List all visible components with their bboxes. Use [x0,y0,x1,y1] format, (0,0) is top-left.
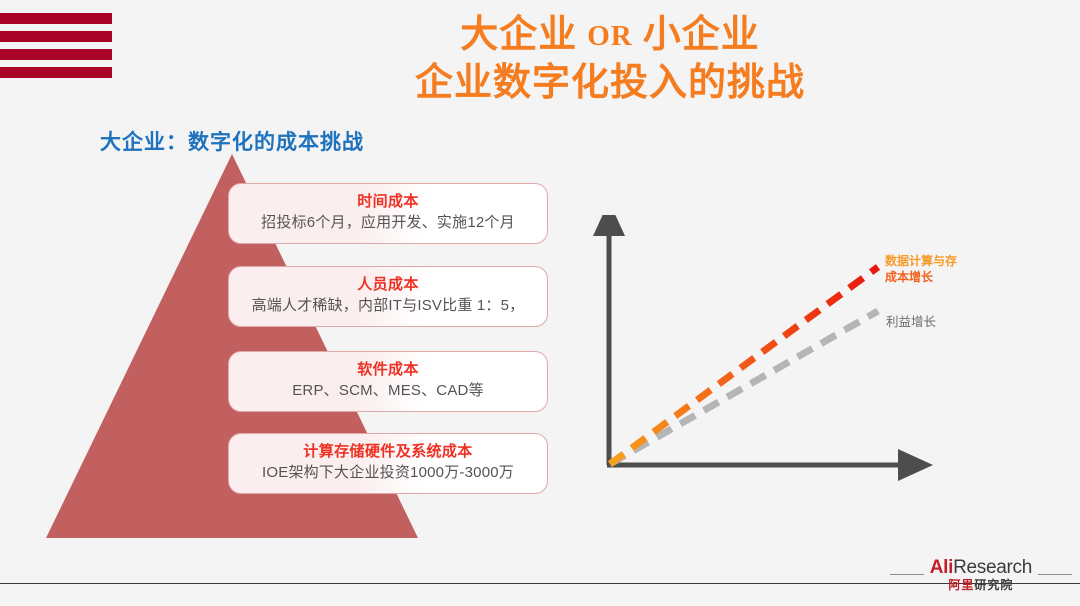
brand-bar-4 [0,67,112,78]
title-or: OR [577,20,643,52]
slide-canvas: 大企业OR小企业 企业数字化投入的挑战 大企业：数字化的成本挑战 时间成本 招投… [0,0,1080,606]
footer-logo-en-ali: Ali [930,557,953,578]
footer-logo-en: AliResearch [930,557,1032,578]
chart-series-cost-growth [610,267,878,464]
brand-bar-3 [0,49,112,60]
brand-bar-1 [0,13,112,24]
title-small-enterprise: 小企业 [643,14,760,56]
chart-label-benefit-growth: 利益增长 [886,314,936,330]
cost-box-desc: ERP、SCM、MES、CAD等 [239,380,537,402]
cost-box-time[interactable]: 时间成本 招投标6个月，应用开发、实施12个月 [228,183,548,244]
chart-label-cost-line1: 数据计算与存 [885,253,957,269]
footer-logo-cn: 阿里研究院 [930,579,1032,591]
page-title: 大企业OR小企业 企业数字化投入的挑战 [300,12,920,107]
footer-logo-dash-right [1038,574,1072,575]
cost-box-desc: 高端人才稀缺，内部IT与ISV比重 1：5， [239,295,537,317]
cost-box-software[interactable]: 软件成本 ERP、SCM、MES、CAD等 [228,351,548,412]
footer-logo-dash-left [890,574,924,575]
footer-logo-cn-ali: 阿里 [948,578,974,592]
ali-research-logo: AliResearch 阿里研究院 [890,558,1072,591]
cost-box-title: 人员成本 [239,275,537,295]
chart-label-cost-line2: 成本增长 [885,269,957,285]
brand-bars-logo [0,13,112,78]
cost-box-personnel[interactable]: 人员成本 高端人才稀缺，内部IT与ISV比重 1：5， [228,266,548,327]
chart-series-benefit-growth [610,311,878,464]
title-big-enterprise: 大企业 [460,14,577,56]
growth-chart-svg [590,215,1060,490]
title-line-2: 企业数字化投入的挑战 [300,60,920,107]
cost-box-hardware[interactable]: 计算存储硬件及系统成本 IOE架构下大企业投资1000万-3000万 [228,433,548,494]
chart-label-cost-growth: 数据计算与存 成本增长 [885,253,957,285]
footer-logo-cn-yjy: 研究院 [974,578,1013,592]
cost-box-title: 软件成本 [239,360,537,380]
footer-logo-en-research: Research [953,557,1032,578]
cost-box-desc: 招投标6个月，应用开发、实施12个月 [239,212,537,234]
cost-box-desc: IOE架构下大企业投资1000万-3000万 [239,462,537,484]
footer-logo-text: AliResearch 阿里研究院 [930,558,1032,591]
title-line-1: 大企业OR小企业 [300,12,920,60]
growth-chart: 数据计算与存 成本增长 利益增长 [590,215,1060,490]
cost-box-title: 计算存储硬件及系统成本 [239,442,537,462]
cost-box-title: 时间成本 [239,192,537,212]
brand-bar-2 [0,31,112,42]
